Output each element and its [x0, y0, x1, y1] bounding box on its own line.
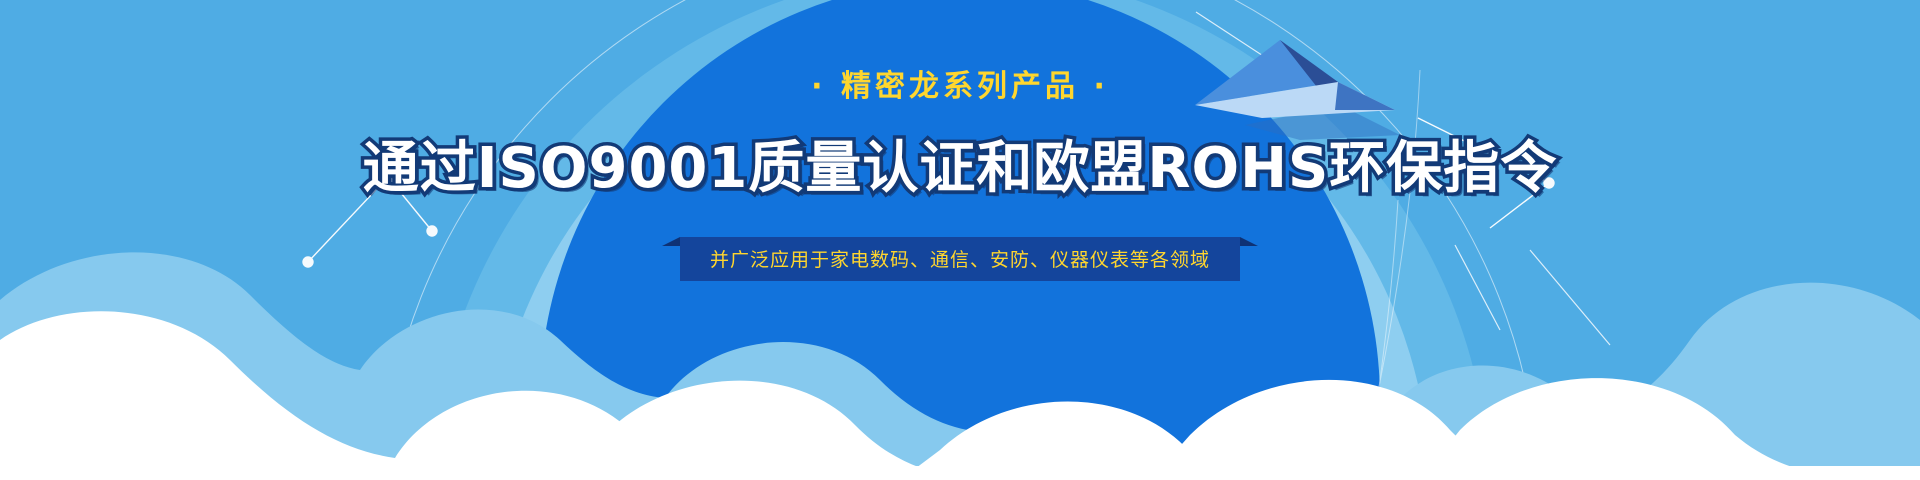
banner-kicker: · 精密龙系列产品 · [811, 72, 1109, 102]
promo-banner: · 精密龙系列产品 · 通过ISO9001质量认证和欧盟ROHS环保指令 并广泛… [0, 0, 1920, 480]
cloud-decoration [0, 180, 1920, 480]
